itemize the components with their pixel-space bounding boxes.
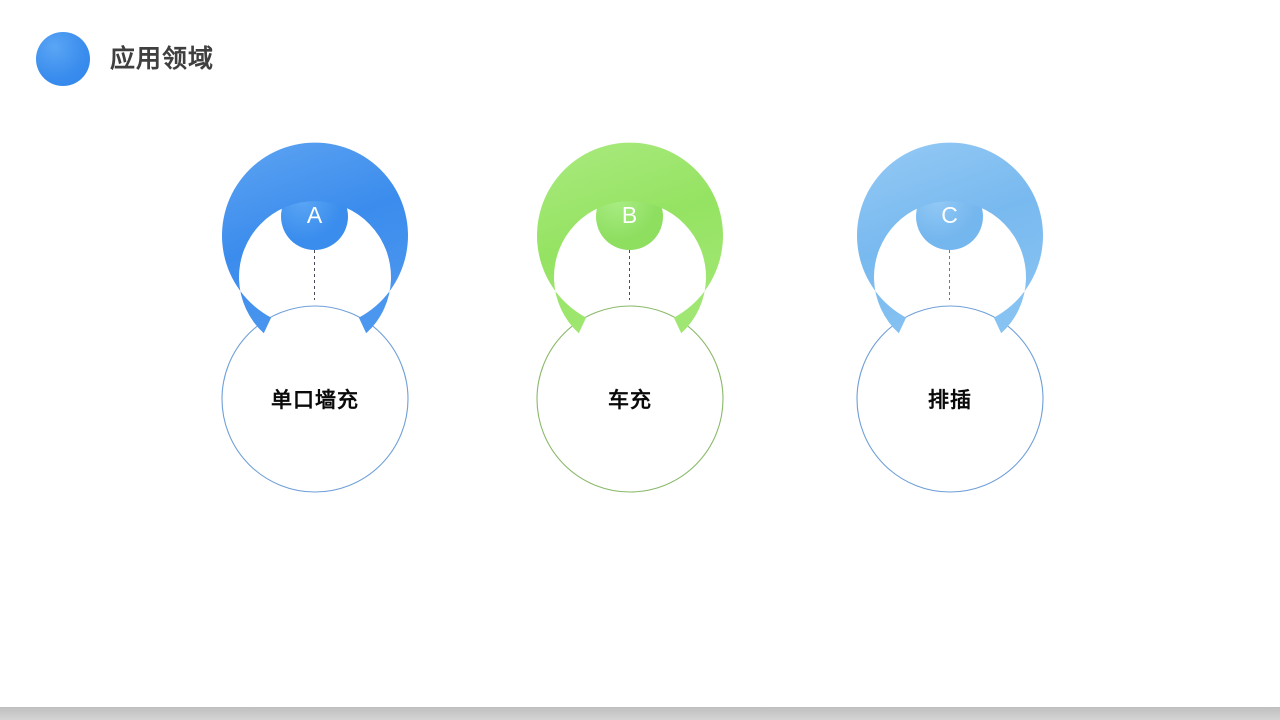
filled-circle-icon (36, 32, 90, 86)
ring-svg (212, 296, 418, 502)
slide-header: 应用领域 (0, 0, 1280, 110)
dashed-connector-line (949, 250, 950, 300)
concept-group-c[interactable]: C 排插 (820, 170, 1080, 510)
concept-group-a[interactable]: A 单口墙充 (185, 170, 445, 510)
ring-diagram-c[interactable]: 排插 (847, 296, 1053, 502)
ring-diagram-a[interactable]: 单口墙充 (212, 296, 418, 502)
badge-letter: A (307, 204, 322, 227)
dashed-connector-line (629, 250, 630, 300)
footer-bar (0, 707, 1280, 720)
ring-diagram-b[interactable]: 车充 (527, 296, 733, 502)
page-title: 应用领域 (110, 43, 214, 75)
badge-letter: C (941, 204, 958, 227)
concept-group-b[interactable]: B 车充 (500, 170, 760, 510)
dashed-connector-line (314, 250, 315, 300)
badge-letter: B (622, 204, 637, 227)
ring-svg (527, 296, 733, 502)
slide-canvas: 应用领域 A 单口墙充 (0, 0, 1280, 720)
ring-svg (847, 296, 1053, 502)
